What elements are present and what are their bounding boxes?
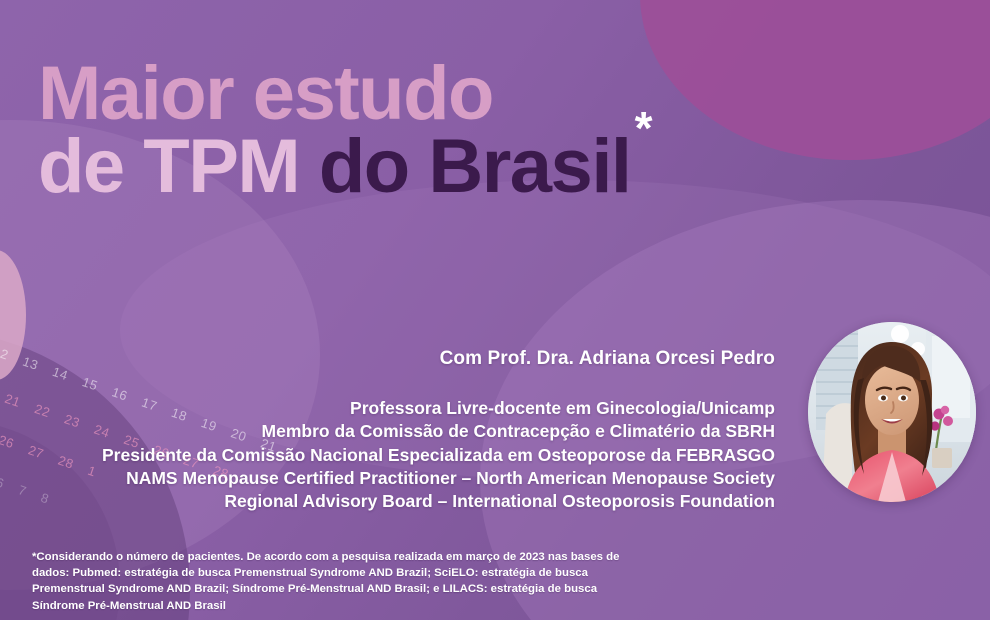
decorative-blob-magenta-top-right bbox=[640, 0, 990, 160]
footnote-line: dados: Pubmed: estratégia de busca Preme… bbox=[32, 565, 672, 581]
headline-line-1: Maior estudo bbox=[38, 58, 647, 129]
speaker-name: Com Prof. Dra. Adriana Orcesi Pedro bbox=[20, 348, 775, 370]
credential-line: Presidente da Comissão Nacional Especial… bbox=[20, 444, 775, 467]
headline-de-tpm: de TPM bbox=[38, 124, 319, 209]
calendar-number: 26 bbox=[0, 432, 16, 451]
footnote-line: *Considerando o número de pacientes. De … bbox=[32, 549, 672, 565]
calendar-number: 12 bbox=[0, 343, 11, 362]
credential-line: Professora Livre-docente em Ginecologia/… bbox=[20, 397, 775, 420]
headline: Maior estudo de TPM do Brasil* bbox=[38, 58, 647, 203]
headline-do-brasil: do Brasil bbox=[319, 124, 631, 209]
credential-line: Membro da Comissão de Contracepção e Cli… bbox=[20, 420, 775, 443]
calendar-number: 6 bbox=[0, 474, 6, 491]
headline-line-2: de TPM do Brasil* bbox=[38, 131, 647, 202]
footnote: *Considerando o número de pacientes. De … bbox=[32, 549, 672, 614]
credential-line: NAMS Menopause Certified Practitioner – … bbox=[20, 467, 775, 490]
speaker-block: Com Prof. Dra. Adriana Orcesi Pedro Prof… bbox=[20, 348, 775, 513]
speaker-credentials: Professora Livre-docente em Ginecologia/… bbox=[20, 397, 775, 513]
slide-canvas: 789101112131415161718192021 171819202122… bbox=[0, 0, 990, 620]
credential-line: Regional Advisory Board – International … bbox=[20, 490, 775, 513]
asterisk-icon: * bbox=[635, 102, 651, 154]
footnote-line: Síndrome Pré-Menstrual AND Brasil bbox=[32, 598, 672, 614]
speaker-portrait-photo bbox=[808, 322, 976, 502]
footnote-line: Premenstrual Syndrome AND Brazil; Síndro… bbox=[32, 581, 672, 597]
